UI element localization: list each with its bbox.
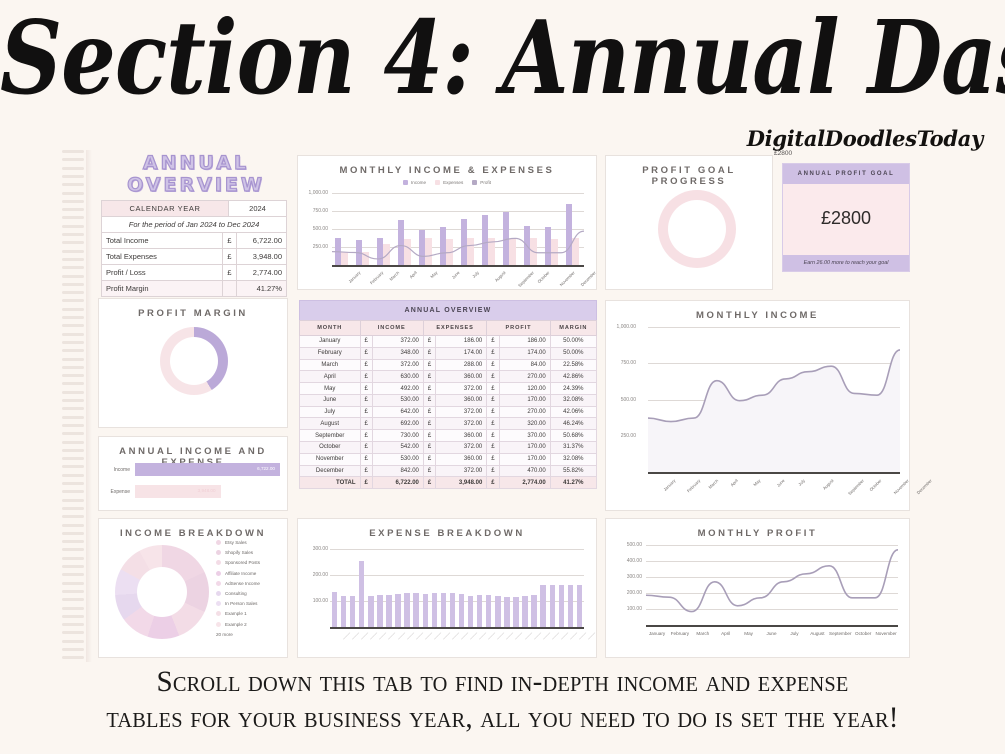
binder-ring bbox=[62, 167, 84, 170]
x-axis-tick-label: ——— bbox=[523, 631, 533, 641]
x-axis-tick-label: ——— bbox=[460, 631, 470, 641]
binder-ring bbox=[62, 631, 84, 634]
binder-ring bbox=[62, 275, 84, 278]
cell-month: August bbox=[300, 418, 361, 430]
legend-swatch bbox=[216, 611, 221, 616]
profit-margin-card: PROFIT MARGIN bbox=[98, 298, 288, 428]
x-axis-tick-label: November bbox=[558, 270, 575, 287]
x-axis-tick-label: December bbox=[579, 270, 596, 287]
binder-ring bbox=[62, 565, 84, 568]
footer-caption-line2: tables for your business year, all you n… bbox=[15, 700, 990, 736]
calendar-year-label: CALENDAR YEAR bbox=[102, 201, 229, 217]
legend-label: Example 2 bbox=[225, 622, 247, 627]
legend-label: Income bbox=[411, 180, 426, 185]
page-title: Section 4: Annual Dashboard bbox=[0, 8, 1005, 109]
x-axis-tick-label: June bbox=[775, 478, 785, 488]
x-axis-tick-label: ——— bbox=[496, 631, 506, 641]
cell-margin: 46.24% bbox=[550, 418, 596, 430]
cell-currency: £ bbox=[487, 394, 499, 406]
summary-row-label: Total Expenses bbox=[102, 249, 223, 265]
legend-swatch bbox=[216, 550, 221, 555]
summary-row-label: Profit / Loss bbox=[102, 265, 223, 281]
summary-row-currency: £ bbox=[223, 265, 237, 281]
x-axis-tick-label: ——— bbox=[569, 631, 579, 641]
bar-expense-category bbox=[568, 585, 573, 627]
cell-month: January bbox=[300, 336, 361, 348]
x-axis-tick-label: ——— bbox=[369, 631, 379, 641]
legend-swatch bbox=[472, 180, 477, 185]
cell-total-margin: 41.27% bbox=[550, 477, 596, 489]
cell-currency: £ bbox=[360, 430, 372, 442]
x-axis-tick-label: January bbox=[662, 478, 676, 492]
binder-ring bbox=[62, 607, 84, 610]
hbar-track: 6,722.00 bbox=[135, 463, 280, 476]
cell-currency: £ bbox=[423, 477, 435, 489]
binder-ring bbox=[62, 540, 84, 543]
axis-baseline bbox=[332, 265, 584, 267]
period-text: For the period of Jan 2024 to Dec 2024 bbox=[102, 217, 287, 233]
page-title-wrap: Section 4: Annual Dashboard bbox=[0, 8, 1005, 94]
cell-currency: £ bbox=[360, 406, 372, 418]
binder-ring bbox=[62, 507, 84, 510]
income-breakdown-legend: Etsy SalesShopify SalesSponsored PostsAf… bbox=[216, 540, 292, 637]
binder-ring bbox=[62, 598, 84, 601]
table-header-cell: EXPENSES bbox=[423, 321, 486, 336]
hbar-row: Income6,722.00 bbox=[105, 463, 283, 476]
table-row: January£372.00£186.00£186.0050.00% bbox=[300, 336, 597, 348]
profit-margin-title: PROFIT MARGIN bbox=[99, 299, 287, 319]
legend-item: Shopify Sales bbox=[216, 550, 292, 555]
annual-profit-goal-amount[interactable]: £2800 bbox=[783, 184, 909, 255]
table-row: November£530.00£360.00£170.0032.08% bbox=[300, 453, 597, 465]
gridline bbox=[330, 575, 584, 576]
cell-value: 372.00 bbox=[372, 359, 423, 371]
calendar-year-value[interactable]: 2024 bbox=[229, 201, 287, 217]
cell-currency: £ bbox=[360, 336, 372, 348]
y-axis-tick-label: 300.00 bbox=[302, 546, 328, 552]
expense-breakdown-card: EXPENSE BREAKDOWN 100.00200.00300.00————… bbox=[297, 518, 597, 658]
y-axis-tick-label: 250.00 bbox=[610, 433, 636, 439]
cell-margin: 42.06% bbox=[550, 406, 596, 418]
cell-value: 842.00 bbox=[372, 465, 423, 477]
cell-margin: 32.08% bbox=[550, 453, 596, 465]
binder-ring bbox=[62, 648, 84, 651]
cell-value: 170.00 bbox=[499, 394, 550, 406]
binder-ring bbox=[62, 640, 84, 643]
cell-value: 270.00 bbox=[499, 406, 550, 418]
monthly-income-expenses-card: MONTHLY INCOME & EXPENSES IncomeExpenses… bbox=[297, 155, 597, 290]
x-axis-tick-label: ——— bbox=[396, 631, 406, 641]
binder-ring bbox=[62, 482, 84, 485]
axis-baseline bbox=[646, 625, 898, 627]
x-axis-tick-label: ——— bbox=[532, 631, 542, 641]
cell-month: May bbox=[300, 383, 361, 395]
cell-currency: £ bbox=[423, 418, 435, 430]
hbar-label: Expense bbox=[105, 489, 135, 495]
x-axis-tick-label: July bbox=[798, 478, 807, 487]
table-row: June£530.00£360.00£170.0032.08% bbox=[300, 394, 597, 406]
summary-row: Profit Margin41.27% bbox=[102, 281, 287, 297]
binder-ring bbox=[62, 432, 84, 435]
x-axis-tick-label: ——— bbox=[487, 631, 497, 641]
x-axis-tick-label: ——— bbox=[505, 631, 515, 641]
y-axis-tick-label: 750.00 bbox=[610, 360, 636, 366]
binder-ring bbox=[62, 449, 84, 452]
bar-expense-category bbox=[395, 594, 400, 627]
bar-expense-category bbox=[577, 585, 582, 627]
profit-goal-donut-hole bbox=[668, 200, 726, 258]
axis-baseline bbox=[330, 627, 584, 629]
binder-ring bbox=[62, 150, 84, 153]
cell-currency: £ bbox=[360, 394, 372, 406]
binder-ring bbox=[62, 416, 84, 419]
table-header-cell: INCOME bbox=[360, 321, 423, 336]
bar-expense-category bbox=[350, 596, 355, 627]
binder-ring bbox=[62, 515, 84, 518]
cell-month: March bbox=[300, 359, 361, 371]
legend-item: Consulting bbox=[216, 591, 292, 596]
x-axis-tick-label: October bbox=[536, 270, 550, 284]
cell-value: 120.00 bbox=[499, 383, 550, 395]
bar-expense-category bbox=[423, 594, 428, 627]
legend-swatch bbox=[435, 180, 440, 185]
cell-total-label: TOTAL bbox=[300, 477, 361, 489]
monthly-income-expenses-plot: 250.00500.00750.001,000.00JanuaryFebruar… bbox=[332, 193, 584, 265]
cell-value: 2,774.00 bbox=[499, 477, 550, 489]
footer-caption-line1: Scroll down this tab to find in-depth in… bbox=[15, 664, 990, 700]
binder-ring bbox=[62, 333, 84, 336]
income-breakdown-title: INCOME BREAKDOWN bbox=[99, 519, 287, 539]
annual-overview-table-title: ANNUAL OVERVIEW bbox=[299, 300, 597, 320]
bar-expense-category bbox=[377, 595, 382, 627]
x-axis-tick-label: July bbox=[471, 270, 480, 279]
y-axis-tick-label: 500.00 bbox=[610, 397, 636, 403]
y-axis-tick-label: 1,000.00 bbox=[610, 324, 636, 330]
legend-label: AdSense Income bbox=[225, 581, 260, 586]
cell-value: 370.00 bbox=[499, 430, 550, 442]
cell-value: 372.00 bbox=[436, 465, 487, 477]
legend-label: Affiliate Income bbox=[225, 571, 256, 576]
x-axis-tick-label: March bbox=[707, 478, 719, 490]
spiral-binding bbox=[62, 150, 88, 662]
bar-expense-category bbox=[550, 585, 555, 627]
cell-currency: £ bbox=[423, 406, 435, 418]
annual-overview-heading-line2: OVERVIEW bbox=[98, 174, 294, 196]
legend-label: Sponsored Posts bbox=[225, 560, 260, 565]
y-axis-tick-label: 500.00 bbox=[302, 226, 328, 232]
cell-margin: 24.39% bbox=[550, 383, 596, 395]
cell-month: February bbox=[300, 347, 361, 359]
cell-value: 170.00 bbox=[499, 442, 550, 454]
cell-month: June bbox=[300, 394, 361, 406]
cell-currency: £ bbox=[423, 371, 435, 383]
legend-label: Shopify Sales bbox=[225, 550, 253, 555]
annual-profit-goal-title: ANNUAL PROFIT GOAL bbox=[783, 164, 909, 184]
cell-currency: £ bbox=[360, 477, 372, 489]
binder-ring bbox=[62, 358, 84, 361]
annual-overview-table: MONTHINCOMEEXPENSESPROFITMARGIN January£… bbox=[299, 320, 597, 489]
cell-currency: £ bbox=[423, 359, 435, 371]
cell-value: 174.00 bbox=[499, 347, 550, 359]
profit-margin-donut-hole bbox=[170, 337, 218, 385]
bar-expense-category bbox=[332, 592, 337, 627]
binder-ring bbox=[62, 623, 84, 626]
summary-row: Total Expenses£3,948.00 bbox=[102, 249, 287, 265]
hbar-value: 3,948.00 bbox=[198, 488, 216, 493]
binder-ring bbox=[62, 241, 84, 244]
expense-breakdown-title: EXPENSE BREAKDOWN bbox=[298, 519, 596, 539]
cell-currency: £ bbox=[423, 442, 435, 454]
table-row: May£492.00£372.00£120.0024.39% bbox=[300, 383, 597, 395]
binder-ring bbox=[62, 441, 84, 444]
monthly-income-title: MONTHLY INCOME bbox=[606, 301, 909, 321]
y-axis-tick-label: 500.00 bbox=[616, 542, 642, 548]
table-row: October£542.00£372.00£170.0031.37% bbox=[300, 442, 597, 454]
binder-ring bbox=[62, 324, 84, 327]
binder-ring bbox=[62, 258, 84, 261]
summary-row-value: 41.27% bbox=[237, 281, 287, 297]
table-row: December£842.00£372.00£470.0055.82% bbox=[300, 465, 597, 477]
binder-ring bbox=[62, 399, 84, 402]
table-header-cell: MONTH bbox=[300, 321, 361, 336]
income-breakdown-donut-hole bbox=[137, 567, 187, 617]
legend-label: Example 1 bbox=[225, 611, 247, 616]
cell-value: 470.00 bbox=[499, 465, 550, 477]
x-axis-tick-label: ——— bbox=[387, 631, 397, 641]
x-axis-tick-label: ——— bbox=[551, 631, 561, 641]
cell-value: 730.00 bbox=[372, 430, 423, 442]
y-axis-tick-label: 250.00 bbox=[302, 244, 328, 250]
cell-value: 360.00 bbox=[436, 453, 487, 465]
cell-value: 84.00 bbox=[499, 359, 550, 371]
legend-item: AdSense Income bbox=[216, 581, 292, 586]
binder-ring bbox=[62, 374, 84, 377]
x-axis-tick-label: September bbox=[516, 270, 534, 288]
legend-swatch bbox=[216, 581, 221, 586]
bar-expense-category bbox=[486, 595, 491, 627]
bar-expense-category bbox=[359, 561, 364, 627]
cell-margin: 50.00% bbox=[550, 347, 596, 359]
hbar-value: 6,722.00 bbox=[257, 466, 275, 471]
hbar-row: Expense3,948.00 bbox=[105, 485, 283, 498]
cell-month: October bbox=[300, 442, 361, 454]
table-row: April£630.00£360.00£270.0042.86% bbox=[300, 371, 597, 383]
cell-value: 288.00 bbox=[436, 359, 487, 371]
x-axis-tick-label: ——— bbox=[424, 631, 434, 641]
summary-row: Total Income£6,722.00 bbox=[102, 233, 287, 249]
table-row: September£730.00£360.00£370.0050.68% bbox=[300, 430, 597, 442]
binder-ring bbox=[62, 299, 84, 302]
monthly-income-expenses-title: MONTHLY INCOME & EXPENSES bbox=[298, 156, 596, 176]
cell-value: 174.00 bbox=[436, 347, 487, 359]
cell-value: 372.00 bbox=[436, 418, 487, 430]
cell-month: November bbox=[300, 453, 361, 465]
binder-ring bbox=[62, 424, 84, 427]
x-axis-tick-label: June bbox=[450, 270, 460, 280]
binder-ring bbox=[62, 407, 84, 410]
binder-ring bbox=[62, 499, 84, 502]
expense-breakdown-plot: 100.00200.00300.00——————————————————————… bbox=[330, 549, 584, 627]
legend-swatch bbox=[216, 622, 221, 627]
legend-item: Sponsored Posts bbox=[216, 560, 292, 565]
axis-baseline bbox=[648, 472, 900, 474]
legend-item: Profit bbox=[472, 180, 491, 185]
cell-value: 360.00 bbox=[436, 371, 487, 383]
cell-value: 360.00 bbox=[436, 394, 487, 406]
x-axis-tick-label: ——— bbox=[514, 631, 524, 641]
binder-ring bbox=[62, 590, 84, 593]
x-axis-tick-label: April bbox=[729, 478, 738, 487]
annual-overview-heading: ANNUAL OVERVIEW bbox=[98, 152, 294, 196]
cell-month: April bbox=[300, 371, 361, 383]
summary-row-currency bbox=[223, 281, 237, 297]
legend-item: Income bbox=[403, 180, 426, 185]
binder-ring bbox=[62, 308, 84, 311]
legend-label: In Person Sales bbox=[225, 601, 257, 606]
cell-margin: 50.00% bbox=[550, 336, 596, 348]
legend-more-label[interactable]: 20 more bbox=[216, 632, 292, 637]
annual-overview-heading-line1: ANNUAL bbox=[98, 152, 294, 174]
bar-expense-category bbox=[559, 585, 564, 627]
cell-value: 320.00 bbox=[499, 418, 550, 430]
y-axis-tick-label: 750.00 bbox=[302, 208, 328, 214]
binder-ring bbox=[62, 283, 84, 286]
legend-label: Etsy Sales bbox=[225, 540, 247, 545]
legend-label: Expenses bbox=[443, 180, 463, 185]
cell-currency: £ bbox=[360, 347, 372, 359]
x-axis-tick-label: March bbox=[388, 270, 400, 282]
summary-row-label: Total Income bbox=[102, 233, 223, 249]
bar-expense-category bbox=[531, 595, 536, 627]
x-axis-tick-label: April bbox=[408, 270, 417, 279]
cell-currency: £ bbox=[423, 394, 435, 406]
bar-expense-category bbox=[459, 594, 464, 627]
monthly-income-card: MONTHLY INCOME 250.00500.00750.001,000.0… bbox=[605, 300, 910, 511]
table-row: March£372.00£288.00£84.0022.58% bbox=[300, 359, 597, 371]
summary-row: Profit / Loss£2,774.00 bbox=[102, 265, 287, 281]
cell-currency: £ bbox=[487, 336, 499, 348]
annual-profit-goal-card: ANNUAL PROFIT GOAL £2800 Earn 26.00 more… bbox=[782, 163, 910, 272]
cell-currency: £ bbox=[360, 418, 372, 430]
hbar-label: Income bbox=[105, 467, 135, 473]
x-axis-tick-label: December bbox=[916, 478, 933, 495]
binder-ring bbox=[62, 532, 84, 535]
cell-margin: 32.08% bbox=[550, 394, 596, 406]
monthly-income-plot: 250.00500.00750.001,000.00JanuaryFebruar… bbox=[648, 327, 900, 472]
binder-ring bbox=[62, 582, 84, 585]
cell-value: 170.00 bbox=[499, 453, 550, 465]
bar-expense-category bbox=[404, 593, 409, 627]
bar-expense-category bbox=[504, 597, 509, 627]
binder-ring bbox=[62, 183, 84, 186]
legend-swatch bbox=[216, 591, 221, 596]
x-axis-tick-label: ——— bbox=[478, 631, 488, 641]
x-axis-tick-label: August bbox=[822, 478, 835, 491]
binder-ring bbox=[62, 656, 84, 659]
x-axis-tick-label: May bbox=[429, 270, 438, 279]
binder-ring bbox=[62, 316, 84, 319]
cell-value: 630.00 bbox=[372, 371, 423, 383]
cell-currency: £ bbox=[487, 347, 499, 359]
x-axis-tick-label: September bbox=[847, 478, 865, 496]
cell-value: 6,722.00 bbox=[372, 477, 423, 489]
x-axis-tick-label: ——— bbox=[414, 631, 424, 641]
binder-ring bbox=[62, 216, 84, 219]
cell-value: 360.00 bbox=[436, 430, 487, 442]
cell-currency: £ bbox=[360, 465, 372, 477]
binder-ring bbox=[62, 200, 84, 203]
x-axis-tick-label: February bbox=[686, 478, 701, 493]
x-axis-tick-label: ——— bbox=[405, 631, 415, 641]
cell-month: September bbox=[300, 430, 361, 442]
binder-ring bbox=[62, 208, 84, 211]
x-axis-tick-label: August bbox=[493, 270, 506, 283]
cell-currency: £ bbox=[487, 453, 499, 465]
cell-margin: 42.86% bbox=[550, 371, 596, 383]
legend-item: Expenses bbox=[435, 180, 463, 185]
cell-currency: £ bbox=[487, 371, 499, 383]
bar-expense-category bbox=[477, 595, 482, 627]
legend-label: Consulting bbox=[225, 591, 247, 596]
binder-ring bbox=[62, 457, 84, 460]
bar-expense-category bbox=[413, 593, 418, 627]
binder-ring bbox=[62, 341, 84, 344]
legend-item: Etsy Sales bbox=[216, 540, 292, 545]
cell-value: 372.00 bbox=[436, 442, 487, 454]
legend-item: Example 1 bbox=[216, 611, 292, 616]
cell-value: 530.00 bbox=[372, 453, 423, 465]
annual-overview-table-wrap: ANNUAL OVERVIEW MONTHINCOMEEXPENSESPROFI… bbox=[299, 300, 597, 489]
summary-totals-table: Total Income£6,722.00Total Expenses£3,94… bbox=[101, 232, 287, 297]
x-axis-tick-label: February bbox=[368, 270, 383, 285]
binder-ring bbox=[62, 349, 84, 352]
cell-currency: £ bbox=[360, 442, 372, 454]
x-axis-tick-label: October bbox=[869, 478, 883, 492]
table-header-cell: PROFIT bbox=[487, 321, 550, 336]
cell-currency: £ bbox=[487, 430, 499, 442]
bar-expense-category bbox=[513, 597, 518, 627]
binder-ring bbox=[62, 233, 84, 236]
binder-ring bbox=[62, 291, 84, 294]
y-axis-tick-label: 300.00 bbox=[616, 574, 642, 580]
bar-expense-category bbox=[450, 593, 455, 627]
x-axis-tick-label: ——— bbox=[342, 631, 352, 641]
monthly-income-line bbox=[648, 327, 900, 472]
watermark: DigitalDoodlesToday bbox=[747, 126, 983, 151]
summary-row-label: Profit Margin bbox=[102, 281, 223, 297]
table-row: February£348.00£174.00£174.0050.00% bbox=[300, 347, 597, 359]
cell-value: 3,948.00 bbox=[436, 477, 487, 489]
monthly-profit-line bbox=[646, 545, 898, 625]
binder-ring bbox=[62, 158, 84, 161]
legend-swatch bbox=[216, 540, 221, 545]
profit-goal-progress-card: PROFIT GOAL PROGRESS bbox=[605, 155, 773, 290]
cell-value: 542.00 bbox=[372, 442, 423, 454]
x-axis-tick-label: May bbox=[752, 478, 761, 487]
hbar-track: 3,948.00 bbox=[135, 485, 221, 498]
legend-item: In Person Sales bbox=[216, 601, 292, 606]
cell-currency: £ bbox=[360, 383, 372, 395]
x-axis-tick-label: ——— bbox=[578, 631, 588, 641]
cell-margin: 22.58% bbox=[550, 359, 596, 371]
bar-expense-category bbox=[441, 593, 446, 627]
x-axis-tick-label: ——— bbox=[541, 631, 551, 641]
binder-ring bbox=[62, 366, 84, 369]
cell-value: 186.00 bbox=[436, 336, 487, 348]
binder-ring bbox=[62, 465, 84, 468]
legend-swatch bbox=[216, 560, 221, 565]
cell-month: December bbox=[300, 465, 361, 477]
